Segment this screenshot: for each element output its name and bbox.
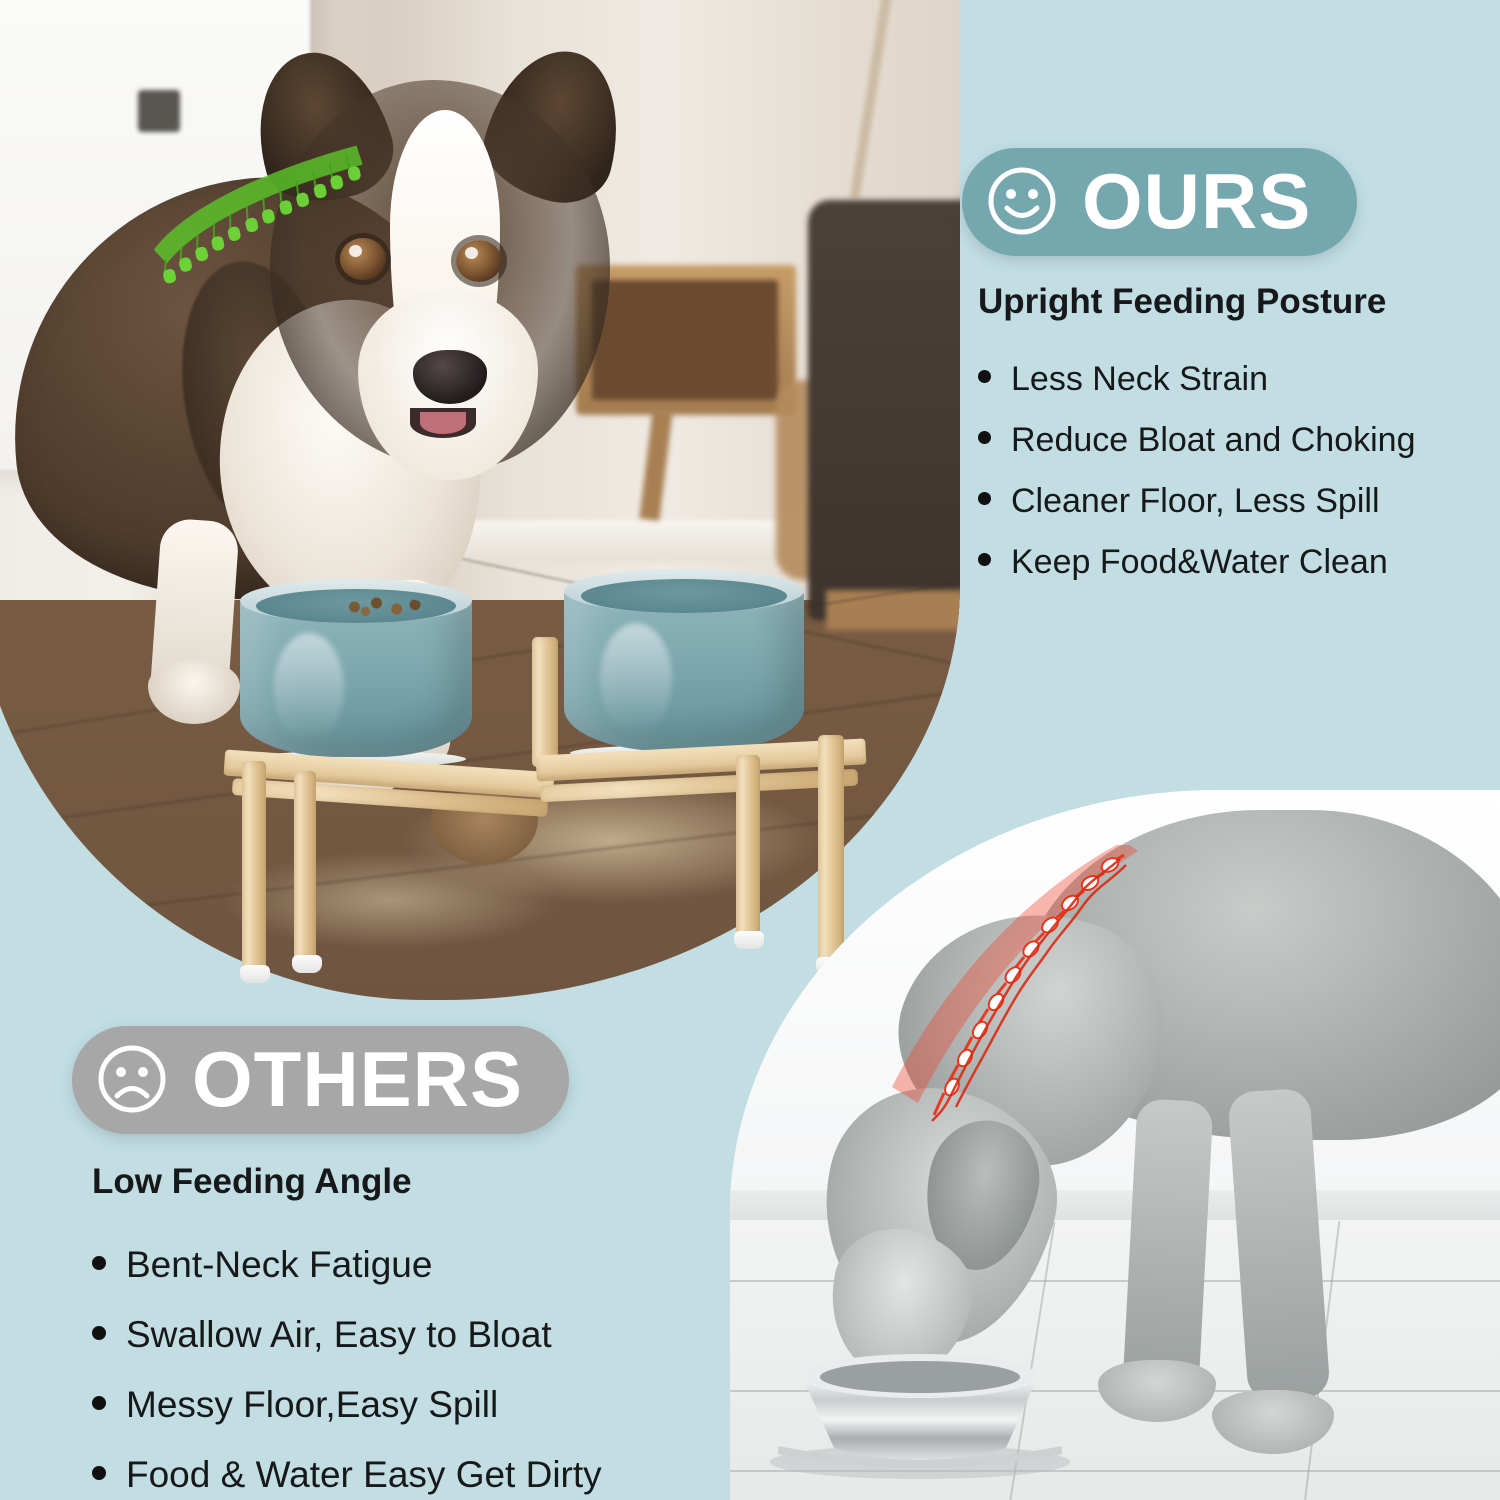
list-item-label: Messy Floor,Easy Spill [126,1384,498,1426]
others-bullet-list: Bent-Neck Fatigue Swallow Air, Easy to B… [92,1244,732,1496]
stainless-steel-floor-bowl [760,1350,1080,1480]
dog-tongue [420,412,466,434]
light-switch [138,90,180,132]
others-text-panel: Low Feeding Angle Bent-Neck Fatigue Swal… [92,1162,732,1500]
console-table [576,265,796,415]
others-heading: Low Feeding Angle [92,1162,732,1202]
bullet-dot-icon [978,492,991,505]
bullet-dot-icon [92,1466,106,1480]
stand-foot-cap [292,955,322,973]
healthy-spine-overlay-icon [136,136,394,293]
right-ceramic-bowl [564,587,804,751]
bullet-dot-icon [92,1326,106,1340]
list-item-label: Food & Water Easy Get Dirty [126,1454,602,1496]
bullet-dot-icon [978,553,991,566]
bullet-dot-icon [92,1256,106,1270]
dog-body [0,157,501,624]
others-photo [730,790,1500,1500]
bullet-dot-icon [978,370,991,383]
baseboard [350,520,910,562]
list-item-label: Cleaner Floor, Less Spill [1011,482,1380,521]
ours-bullet-list: Less Neck Strain Reduce Bloat and Chokin… [978,360,1478,582]
dog-muzzle [358,290,538,480]
dog-neck-fur [162,249,358,551]
dog-eye-right [456,240,502,282]
smiley-face-icon [984,163,1060,239]
bullet-dot-icon [978,431,991,444]
ours-badge-label: OURS [1082,162,1311,240]
sad-face-icon [94,1041,170,1117]
console-table-leg [639,409,672,521]
room-wall [0,0,960,600]
dog-ear-left [238,37,404,217]
dog-face-blaze [390,110,500,440]
list-item: Swallow Air, Easy to Bloat [92,1314,732,1356]
stand-leg-front-left [242,761,266,971]
sofa [808,200,960,620]
dog-eye-left [340,238,386,280]
console-table-inset [592,280,778,400]
list-item-label: Less Neck Strain [1011,360,1268,399]
list-item: Cleaner Floor, Less Spill [978,482,1478,521]
stand-foot-cap [240,965,270,983]
list-item-label: Reduce Bloat and Choking [1011,421,1416,460]
ours-badge: OURS [962,148,1357,256]
dog-mouth [410,408,476,438]
others-badge: OTHERS [72,1026,569,1134]
list-item: Reduce Bloat and Choking [978,421,1478,460]
stand-center-post [532,637,558,767]
list-item-label: Swallow Air, Easy to Bloat [126,1314,552,1356]
list-item: Food & Water Easy Get Dirty [92,1454,732,1496]
ours-heading: Upright Feeding Posture [978,282,1478,322]
left-ceramic-bowl [240,597,472,757]
list-item: Less Neck Strain [978,360,1478,399]
list-item-label: Keep Food&Water Clean [1011,543,1388,582]
others-badge-label: OTHERS [192,1040,523,1118]
sofa-arm [776,380,846,580]
list-item: Bent-Neck Fatigue [92,1244,732,1286]
bullet-dot-icon [92,1396,106,1410]
list-item: Messy Floor,Easy Spill [92,1384,732,1426]
dog-ear-right [474,37,636,214]
kibble [336,597,428,617]
list-item: Keep Food&Water Clean [978,543,1478,582]
lamp-pole [850,0,901,199]
list-item-label: Bent-Neck Fatigue [126,1244,432,1286]
dog-nose [413,350,487,404]
ours-text-panel: Upright Feeding Posture Less Neck Strain… [978,282,1478,604]
stand-leg-back-left [294,771,316,961]
dog-head [270,80,610,470]
wall-panel [0,0,310,470]
strained-spine-overlay-icon [852,845,1142,1145]
infographic-page: OURS Upright Feeding Posture Less Neck S… [0,0,1500,1500]
